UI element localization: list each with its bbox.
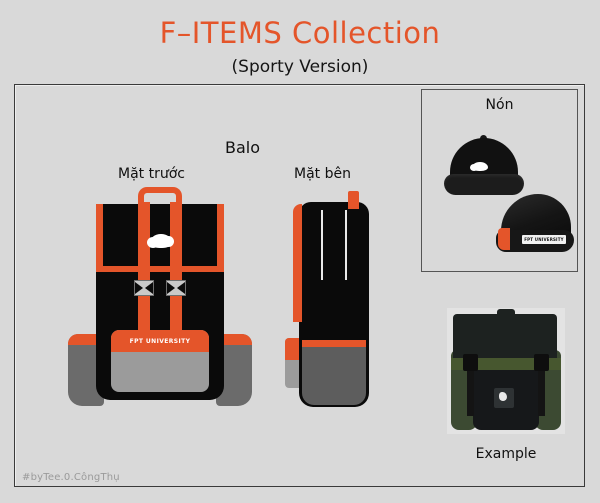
- example-photo: [447, 308, 565, 434]
- backpack-front-view-label: Mặt trước: [118, 166, 185, 182]
- page-subtitle: (Sporty Version): [232, 59, 369, 76]
- side-view-edge-trim: [293, 204, 302, 322]
- backpack-flap-edge-bottom: [96, 266, 224, 272]
- hat-front-illustration: [444, 138, 524, 196]
- poster-canvas: F–ITEMS Collection (Sporty Version) Balo…: [0, 0, 600, 503]
- backpack-front-pocket: FPT UNIVERSITY: [111, 330, 209, 392]
- hat-panel: Nón FPT UNIVERSITY: [421, 89, 578, 272]
- backpack-flap-edge-left: [96, 204, 103, 272]
- side-view-base: [302, 347, 366, 405]
- hat-brand-label: FPT UNIVERSITY: [522, 235, 566, 244]
- example-buckle-left: [463, 354, 478, 371]
- hat-section-title: Nón: [422, 97, 577, 113]
- backpack-side-illustration: [285, 196, 395, 411]
- side-view-seam-1: [321, 210, 323, 280]
- page-title: F–ITEMS Collection: [160, 19, 441, 48]
- side-view-top-tab: [348, 191, 359, 209]
- backpack-buckle-left: [134, 280, 154, 296]
- backpack-buckle-right: [166, 280, 186, 296]
- backpack-side-view-label: Mặt bên: [294, 166, 351, 182]
- example-brand-tag: [494, 388, 514, 408]
- hat-angled-accent-tab: [498, 228, 510, 250]
- backpack-brand-text: FPT UNIVERSITY: [130, 338, 191, 345]
- hat-angled-illustration: FPT UNIVERSITY: [496, 194, 574, 256]
- side-view-seam-2: [345, 210, 347, 280]
- example-strap-right: [538, 368, 545, 416]
- backpack-flap-edge-right: [217, 204, 224, 272]
- poster-header: F–ITEMS Collection (Sporty Version): [0, 0, 600, 84]
- example-strap-left: [467, 368, 474, 416]
- hat-brand-text: FPT UNIVERSITY: [524, 237, 564, 242]
- example-buckle-right: [534, 354, 549, 371]
- fpt-cloud-logo-icon: [472, 162, 488, 171]
- side-view-base-trim: [302, 340, 366, 347]
- hat-band: [444, 174, 524, 195]
- backpack-section-title: Balo: [225, 138, 260, 157]
- backpack-brand-band: FPT UNIVERSITY: [111, 330, 209, 352]
- example-photo-image: [447, 308, 565, 434]
- watermark: #byTee.0.CôngThụ: [22, 472, 120, 483]
- example-label: Example: [447, 446, 565, 462]
- backpack-front-illustration: FPT UNIVERSITY: [60, 196, 260, 411]
- fpt-cloud-logo-icon: [150, 234, 172, 248]
